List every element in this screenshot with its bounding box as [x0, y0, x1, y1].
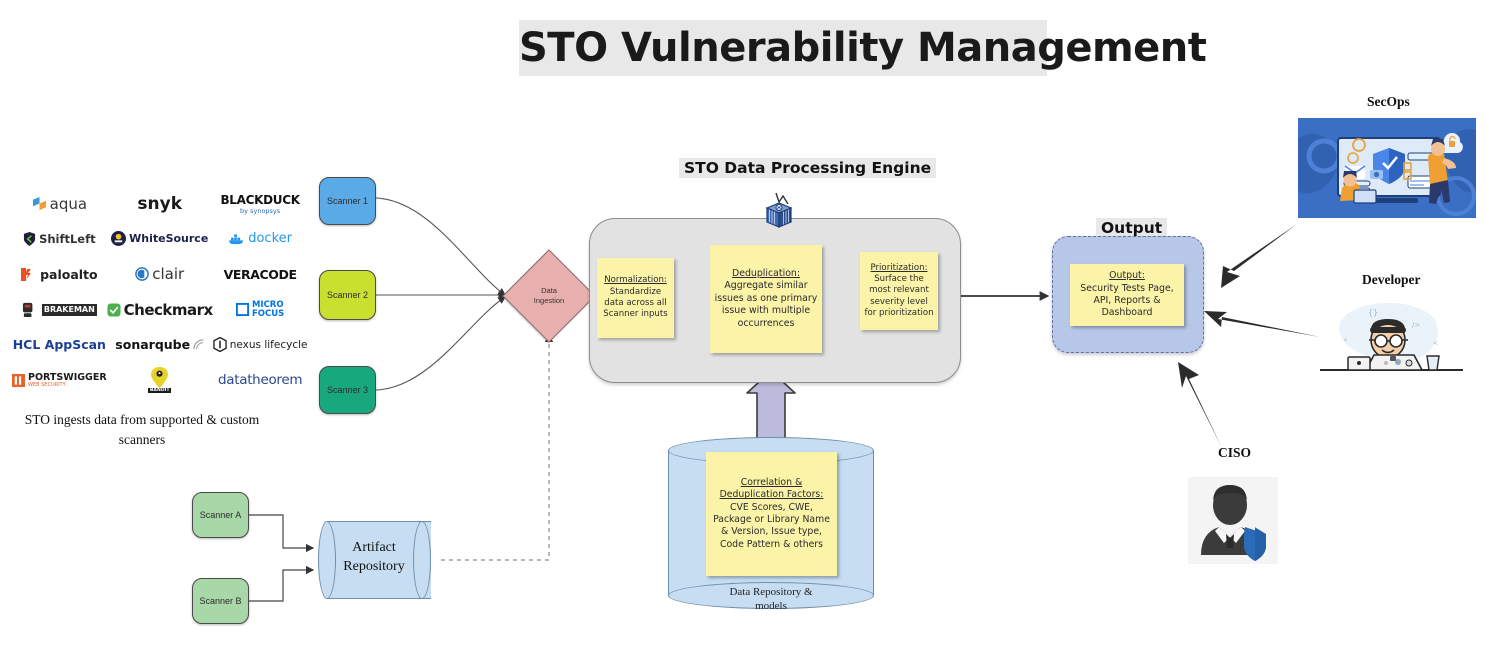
blackduck-logo: BLACKDUCK by synopsys — [213, 186, 308, 221]
data-ingestion-label-line-2: Ingestion — [534, 296, 564, 306]
note-normalization-heading: Normalization: — [604, 275, 667, 286]
brakeman-logo-label: BRAKEMAN — [42, 304, 97, 316]
svg-text:{}: {} — [1368, 308, 1378, 317]
snyk-logo-label: snyk — [137, 194, 182, 214]
note-deduplication-body: Aggregate similar issues as one primary … — [714, 280, 818, 330]
blackduck-logo-label: BLACKDUCK — [220, 193, 299, 207]
docker-logo-label: docker — [248, 231, 292, 246]
note-prioritization: Prioritization: Surface the most relevan… — [860, 252, 938, 330]
data-ingestion-label-line-1: Data — [541, 286, 557, 296]
sonarqube-logo: sonarqube — [107, 327, 213, 362]
portswigger-logo-sub: WEB SECURITY — [28, 383, 107, 388]
artifact-repository-label-line-1: Artifact — [352, 540, 396, 555]
shiftleft-logo-label: ShiftLeft — [39, 232, 96, 246]
note-deduplication: Deduplication: Aggregate similar issues … — [710, 245, 822, 353]
ciso-label: CISO — [1218, 445, 1251, 461]
note-output-text: Output: Security Tests Page, API, Report… — [1074, 270, 1180, 320]
svg-text:*: * — [1344, 338, 1347, 345]
checkmarx-logo-label: Checkmarx — [124, 301, 213, 319]
nexus-lifecycle-logo-label: nexus lifecycle — [230, 339, 308, 351]
whitesource-logo: WhiteSource — [107, 221, 213, 256]
data-repository-label-line-1: Data Repository & — [729, 586, 812, 598]
bandit-logo: BANDIT — [107, 363, 213, 398]
scanner-a-node[interactable]: Scanner A — [192, 492, 249, 538]
bandit-logo-label: BANDIT — [148, 388, 172, 393]
checkmarx-logo: Checkmarx — [107, 292, 213, 327]
data-ingestion-label: Data Ingestion — [516, 263, 582, 329]
note-correlation-heading-line-2: Deduplication Factors: — [720, 489, 824, 501]
aqua-logo-label: aqua — [50, 195, 87, 213]
brakeman-logo: BRAKEMAN — [12, 292, 107, 327]
note-correlation-heading-line-1: Correlation & — [741, 477, 802, 489]
note-output: Output: Security Tests Page, API, Report… — [1070, 264, 1184, 326]
whitesource-logo-label: WhiteSource — [129, 232, 208, 245]
scanner-3-node[interactable]: Scanner 3 — [319, 366, 376, 414]
note-prioritization-body: Surface the most relevant severity level… — [864, 274, 934, 319]
developer-illustration: {} /> * < — [1320, 293, 1463, 377]
note-output-body: Security Tests Page, API, Reports & Dash… — [1080, 283, 1173, 319]
sonarqube-logo-label: sonarqube — [115, 337, 190, 352]
datatheorem-logo-label: datatheorem — [218, 372, 302, 388]
note-correlation-factors: Correlation & Deduplication Factors: CVE… — [706, 452, 837, 576]
clair-logo: clair — [107, 257, 213, 292]
hcl-appscan-logo: HCL AppScan — [12, 327, 107, 362]
scanner-b-node[interactable]: Scanner B — [192, 578, 249, 624]
secops-label: SecOps — [1367, 94, 1410, 110]
microfocus-logo-label: MICRO FOCUS — [252, 301, 284, 319]
data-repository-label-line-2: models — [755, 600, 787, 612]
blackduck-logo-sub: by synopsys — [240, 207, 280, 215]
veracode-logo: VERACODE — [213, 257, 308, 292]
artifact-repository-label-line-2: Repository — [343, 559, 404, 574]
ciso-illustration — [1188, 477, 1278, 564]
secops-illustration — [1298, 118, 1476, 218]
microfocus-logo: MICRO FOCUS — [213, 292, 308, 327]
clair-logo-label: clair — [152, 265, 184, 283]
page-title: STO Vulnerability Management — [519, 20, 1047, 76]
processing-cube-icon — [757, 190, 801, 232]
veracode-logo-label: VERACODE — [224, 267, 297, 282]
shiftleft-logo: ShiftLeft — [12, 221, 107, 256]
scanner-2-node[interactable]: Scanner 2 — [319, 270, 376, 320]
portswigger-logo: PORTSWIGGER WEB SECURITY — [12, 363, 107, 398]
engine-title: STO Data Processing Engine — [679, 158, 936, 178]
supported-scanner-logo-grid: aqua snyk BLACKDUCK by synopsys ShiftLef… — [12, 186, 274, 398]
note-deduplication-heading: Deduplication: — [732, 268, 800, 280]
artifact-repository-cylinder: Artifact Repository — [318, 521, 440, 599]
data-repository-label: Data Repository & models — [668, 585, 874, 614]
scanner-ingest-caption: STO ingests data from supported & custom… — [8, 410, 276, 449]
svg-text:/>: /> — [1412, 321, 1420, 329]
note-normalization: Normalization: Standardize data across a… — [597, 258, 674, 338]
note-normalization-body: Standardize data across all Scanner inpu… — [601, 287, 670, 321]
paloalto-logo: paloalto — [12, 257, 107, 292]
docker-logo: docker — [213, 221, 308, 256]
svg-text:<: < — [1433, 340, 1438, 347]
note-output-heading: Output: — [1074, 270, 1180, 282]
developer-label: Developer — [1362, 272, 1420, 288]
data-ingestion-diamond[interactable]: Data Ingestion — [516, 263, 582, 329]
datatheorem-logo: datatheorem — [213, 363, 308, 398]
scanner-1-node[interactable]: Scanner 1 — [319, 177, 376, 225]
artifact-repository-label: Artifact Repository — [326, 539, 422, 577]
nexus-lifecycle-logo: nexus lifecycle — [213, 327, 308, 362]
note-prioritization-heading: Prioritization: — [870, 263, 927, 274]
aqua-logo: aqua — [12, 186, 107, 221]
paloalto-logo-label: paloalto — [40, 267, 98, 282]
output-title: Output — [1096, 218, 1167, 238]
note-correlation-body: CVE Scores, CWE, Package or Library Name… — [710, 502, 833, 551]
hcl-appscan-logo-label: HCL AppScan — [13, 337, 106, 352]
snyk-logo: snyk — [107, 186, 213, 221]
